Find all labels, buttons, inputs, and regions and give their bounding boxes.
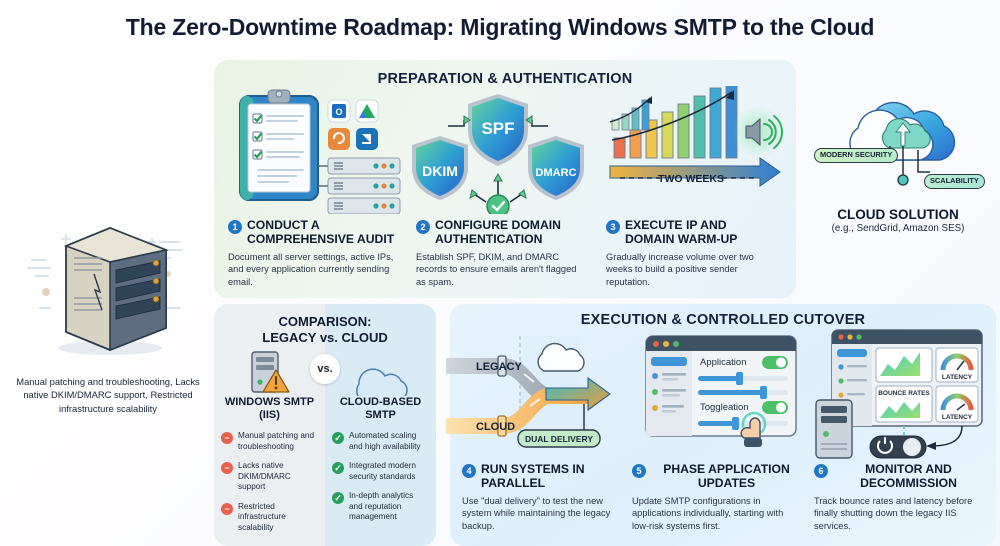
cloud-solution-subtitle: (e.g., SendGrid, Amazon SES) (800, 223, 996, 234)
app-config-row1-label: Application (700, 357, 746, 368)
badge-modern-security: MODERN SECURITY (814, 148, 898, 163)
list-item: − Manual patching and troubleshooting (221, 431, 318, 452)
cloud-solution-block: MODERN SECURITY SCALABILITY CLOUD SOLUTI… (800, 88, 996, 234)
step-6-badge: 6 (814, 464, 828, 478)
svg-text:O: O (335, 107, 342, 117)
comparison-cloud-item-3: In-depth analytics and reputation manage… (349, 491, 429, 523)
badge-scalability: SCALABILITY (924, 174, 985, 189)
latency-label-1: LATENCY (942, 374, 973, 381)
minus-icon: − (221, 503, 233, 515)
minus-icon: − (221, 462, 233, 474)
step-2-badge: 2 (416, 220, 430, 234)
comparison-cloud-label: CLOUD-BASED SMTP (325, 396, 436, 422)
step-5-badge: 5 (632, 464, 646, 478)
windows-server-icon (214, 350, 325, 396)
preparation-panel-header: PREPARATION & AUTHENTICATION (214, 71, 796, 87)
step-4-title: RUN SYSTEMS IN PARALLEL (481, 462, 632, 491)
step-6: 6 MONITOR AND DECOMMISSION Track bounce … (814, 462, 984, 532)
legacy-pipe-label: LEGACY (476, 361, 523, 373)
comparison-title-line2: LEGACY vs. CLOUD (262, 330, 387, 345)
comparison-title-line1: COMPARISON: (279, 314, 372, 329)
step-1: 1 CONDUCT A COMPREHENSIVE AUDIT Document… (228, 218, 398, 288)
list-item: ✓ In-depth analytics and reputation mana… (332, 491, 429, 523)
step-5-desc: Update SMTP configurations in applicatio… (632, 495, 802, 533)
legacy-server-block: Manual patching and troubleshooting, Lac… (10, 212, 206, 415)
dual-delivery-label: DUAL DELIVERY (525, 434, 593, 444)
bounce-rates-label: BOUNCE RATES (878, 390, 930, 397)
comparison-cloud-item-2: Integrated modern security standards (349, 461, 429, 482)
app-config-window-illustration: Application Toggleation (634, 328, 812, 460)
list-item: ✓ Automated scaling and high availabilit… (332, 431, 429, 452)
step-1-desc: Document all server settings, active IPs… (228, 251, 398, 289)
cloud-pipe-label: CLOUD (476, 421, 515, 433)
step-1-badge: 1 (228, 220, 242, 234)
step-4-badge: 4 (462, 464, 476, 478)
step-6-title: MONITOR AND DECOMMISSION (833, 462, 984, 491)
check-icon: ✓ (332, 432, 344, 444)
execution-panel: EXECUTION & CONTROLLED CUTOVER LEGACY CL… (450, 304, 996, 546)
step-6-desc: Track bounce rates and latency before fi… (814, 495, 984, 533)
comparison-legacy-item-2: Lacks native DKIM/DMARC support (238, 461, 318, 493)
comparison-legacy-list: − Manual patching and troubleshooting − … (214, 431, 325, 533)
list-item: − Restricted infrastructure scalability (221, 502, 318, 534)
step-3-badge: 3 (606, 220, 620, 234)
comparison-legacy-item-3: Restricted infrastructure scalability (238, 502, 318, 534)
comparison-cloud-item-1: Automated scaling and high availability (349, 431, 429, 452)
comparison-cloud-list: ✓ Automated scaling and high availabilit… (325, 431, 436, 523)
step-2: 2 CONFIGURE DOMAIN AUTHENTICATION Establ… (416, 218, 586, 288)
cloud-icon (325, 350, 436, 396)
shield-label-dmarc: DMARC (536, 167, 577, 179)
step-5: 5 PHASE APPLICATION UPDATES Update SMTP … (632, 462, 802, 532)
preparation-panel: PREPARATION & AUTHENTICATION O (214, 60, 796, 298)
step-3-title: EXECUTE IP AND DOMAIN WARM-UP (625, 218, 776, 247)
step-3-desc: Gradually increase volume over two weeks… (606, 251, 776, 289)
latency-label-2: LATENCY (942, 414, 973, 421)
step-1-title: CONDUCT A COMPREHENSIVE AUDIT (247, 218, 398, 247)
comparison-column-legacy: WINDOWS SMTP (IIS) − Manual patching and… (214, 350, 325, 542)
list-item: ✓ Integrated modern security standards (332, 461, 429, 482)
step-3: 3 EXECUTE IP AND DOMAIN WARM-UP Graduall… (606, 218, 776, 288)
comparison-title: COMPARISON: LEGACY vs. CLOUD (214, 314, 436, 345)
ip-warmup-chart-illustration: TWO WEEKS (606, 86, 792, 214)
check-icon: ✓ (332, 492, 344, 504)
domain-auth-shields-illustration: SPF DKIM DMARC (400, 86, 596, 214)
monitoring-dashboard-illustration: LATENCY BOUNCE RATES LATENCY (812, 324, 992, 464)
comparison-column-cloud: CLOUD-BASED SMTP ✓ Automated scaling and… (325, 350, 436, 532)
legacy-server-illustration (10, 212, 206, 362)
check-icon: ✓ (332, 462, 344, 474)
legacy-server-caption: Manual patching and troubleshooting, Lac… (10, 375, 206, 415)
step-5-title: PHASE APPLICATION UPDATES (651, 462, 802, 491)
step-4: 4 RUN SYSTEMS IN PARALLEL Use "dual deli… (462, 462, 632, 532)
minus-icon: − (221, 432, 233, 444)
cloud-solution-title: CLOUD SOLUTION (800, 207, 996, 222)
comparison-legacy-item-1: Manual patching and troubleshooting (238, 431, 318, 452)
comparison-legacy-label: WINDOWS SMTP (IIS) (214, 396, 325, 422)
app-config-row2-label: Toggleation (700, 402, 749, 413)
step-2-title: CONFIGURE DOMAIN AUTHENTICATION (435, 218, 586, 247)
audit-clipboard-illustration: O (228, 86, 410, 214)
warmup-duration-label: TWO WEEKS (658, 173, 724, 185)
vs-badge: vs. (310, 354, 340, 384)
shield-label-spf: SPF (481, 119, 514, 138)
shield-label-dkim: DKIM (422, 163, 458, 179)
dual-delivery-illustration: LEGACY CLOUD DUAL DELIVERY (446, 330, 642, 460)
comparison-panel: COMPARISON: LEGACY vs. CLOUD vs. WINDOWS… (214, 304, 436, 546)
list-item: − Lacks native DKIM/DMARC support (221, 461, 318, 493)
step-4-desc: Use "dual delivery" to test the new syst… (462, 495, 632, 533)
step-2-desc: Establish SPF, DKIM, and DMARC records t… (416, 251, 586, 289)
page-title: The Zero-Downtime Roadmap: Migrating Win… (0, 14, 1000, 41)
